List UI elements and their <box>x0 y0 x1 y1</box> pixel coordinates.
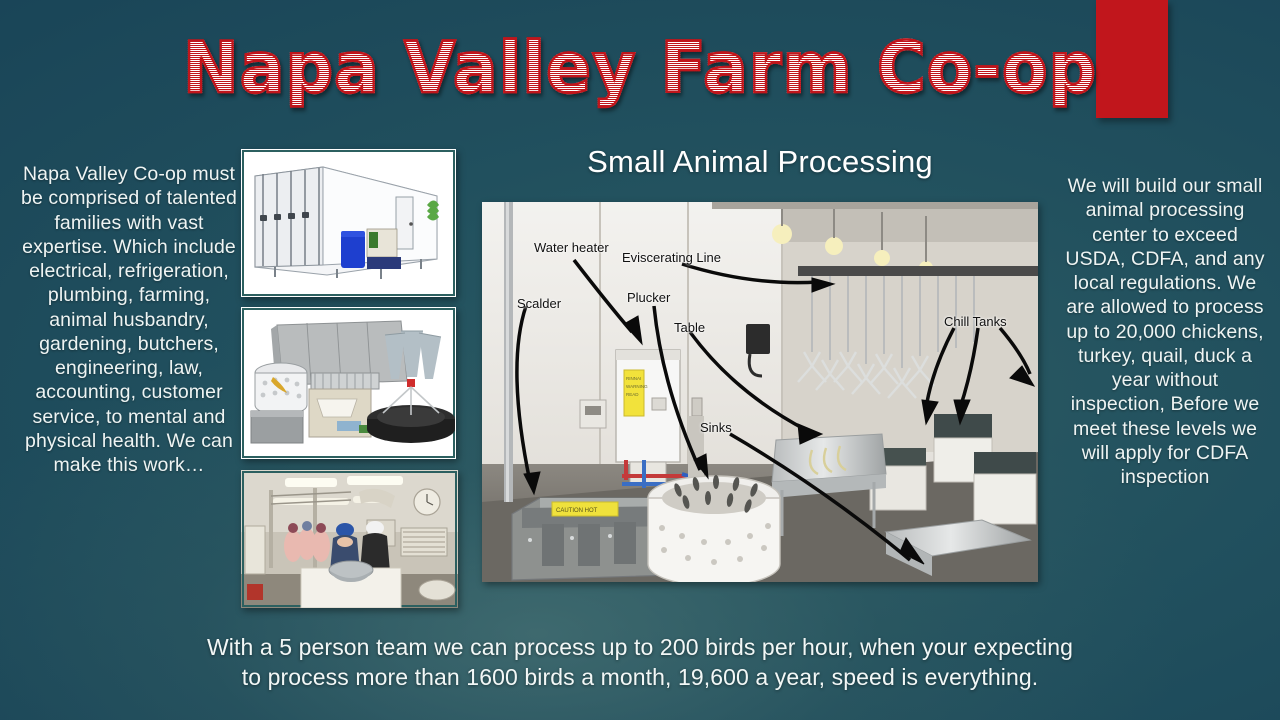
facility-interior-illustration: RINNAI WARNING READ <box>482 202 1038 582</box>
equipment-illustration <box>241 307 456 459</box>
left-text-block: Napa Valley Co-op must be comprised of t… <box>18 162 240 477</box>
photo-label-chill-tanks: Chill Tanks <box>944 314 1007 329</box>
photo-label-sinks: Sinks <box>700 420 732 435</box>
svg-text:CAUTION HOT: CAUTION HOT <box>556 508 598 514</box>
processing-equipment-image <box>241 307 456 459</box>
workers-illustration <box>241 470 458 608</box>
caption-line-2: to process more than 1600 birds a month,… <box>90 662 1190 692</box>
red-accent-bar <box>1096 0 1168 118</box>
right-text-block: We will build our small animal processin… <box>1062 174 1268 489</box>
title-container: Napa Valley Farm Co-op <box>0 32 1280 106</box>
svg-text:RINNAI: RINNAI <box>626 376 641 381</box>
refrigerated-container-image <box>241 149 456 297</box>
workers-processing-image <box>241 470 458 608</box>
container-illustration <box>241 149 456 297</box>
svg-text:WARNING: WARNING <box>626 384 648 389</box>
photo-label-water-heater: Water heater <box>534 240 609 255</box>
photo-label-scalder: Scalder <box>517 296 561 311</box>
presentation-slide: Napa Valley Farm Co-op Napa Valley Co-op… <box>0 0 1280 720</box>
page-title: Napa Valley Farm Co-op <box>183 32 1097 106</box>
caption-line-1: With a 5 person team we can process up t… <box>90 632 1190 662</box>
main-facility-photo: RINNAI WARNING READ <box>482 202 1038 582</box>
section-heading: Small Animal Processing <box>482 144 1038 180</box>
svg-text:READ: READ <box>626 392 639 397</box>
photo-label-eviscerating-line: Eviscerating Line <box>622 250 721 265</box>
photo-label-table: Table <box>674 320 705 335</box>
bottom-caption: With a 5 person team we can process up t… <box>90 632 1190 693</box>
photo-label-plucker: Plucker <box>627 290 670 305</box>
